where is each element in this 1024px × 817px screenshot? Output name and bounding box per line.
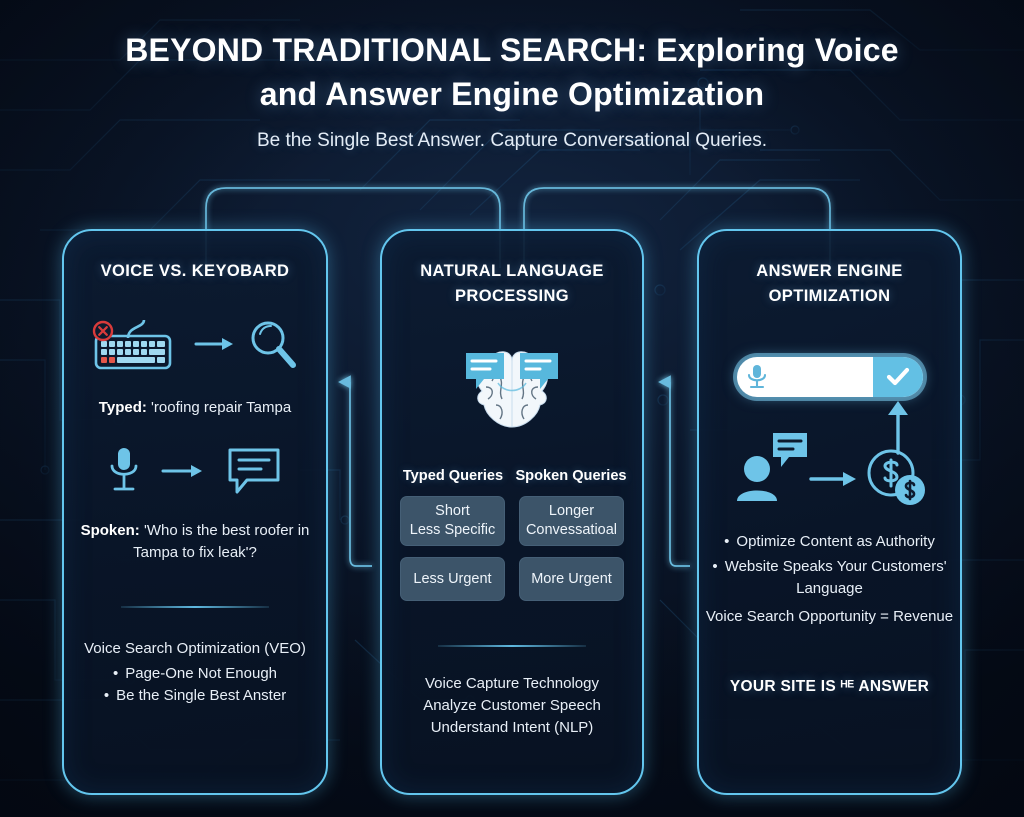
magnifier-icon bbox=[246, 316, 298, 377]
card-1-typed-caption: Typed: 'roofing repair Tampa bbox=[64, 397, 326, 419]
card-3-title-line-1: ANSWER ENGINE bbox=[711, 259, 948, 284]
page-subtitle: Be the Single Best Answer. Capture Conve… bbox=[0, 130, 1024, 152]
card-2-footer-line-3: Understand Intent (NLP) bbox=[396, 717, 628, 739]
page-title-rest: Exploring Voice bbox=[647, 32, 899, 68]
card-voice-vs-keyboard[interactable]: VOICE VS. KEYOBARD bbox=[62, 229, 328, 795]
card-1-title: VOICE VS. KEYOBARD bbox=[64, 259, 326, 284]
pill-line-2: Convessatioal bbox=[526, 522, 617, 538]
pill-row-1: Short Less Specific Longer Convessatioal bbox=[400, 496, 624, 546]
arrow-right-icon bbox=[194, 334, 236, 359]
pill-line-1: Longer bbox=[549, 503, 594, 519]
card-3-title: ANSWER ENGINE OPTIMIZATION bbox=[699, 259, 960, 309]
card-2-pill-grid: Short Less Specific Longer Convessatioal… bbox=[382, 496, 642, 601]
card-2-column-headers: Typed Queries Spoken Queries bbox=[382, 468, 642, 484]
card-1-icon-row-spoken bbox=[64, 445, 326, 502]
card-2-icon-row bbox=[382, 343, 642, 440]
card-3-equation: Voice Search Opportunity = Revenue bbox=[699, 606, 960, 628]
speech-bubble-icon bbox=[225, 445, 283, 502]
card-1-spoken-label: Spoken: bbox=[81, 522, 140, 539]
card-1-typed-label: Typed: bbox=[99, 399, 147, 416]
list-item: Optimize Content as Authority bbox=[711, 531, 948, 553]
person-speaking-icon bbox=[735, 431, 809, 508]
page-title-line-1: BEYOND TRADITIONAL SEARCH: Exploring Voi… bbox=[0, 28, 1024, 72]
card-1-icon-row-typed bbox=[64, 314, 326, 379]
card-2-footer-line-1: Voice Capture Technology bbox=[396, 673, 628, 695]
card-2-title-line-1: NATURAL LANGUAGE bbox=[394, 259, 630, 284]
pill-row-2: Less Urgent More Urgent bbox=[400, 557, 624, 601]
pill-typed-less-urgent[interactable]: Less Urgent bbox=[400, 557, 505, 601]
page-title-bold: BEYOND TRADITIONAL SEARCH: bbox=[125, 32, 647, 68]
page-header: BEYOND TRADITIONAL SEARCH: Exploring Voi… bbox=[0, 28, 1024, 152]
pill-line-1: Short bbox=[435, 503, 470, 519]
list-item: Website Speaks Your Customers' Language bbox=[711, 556, 948, 600]
card-3-title-line-2: OPTIMIZATION bbox=[711, 284, 948, 309]
pill-typed-short[interactable]: Short Less Specific bbox=[400, 496, 505, 546]
pill-spoken-longer[interactable]: Longer Convessatioal bbox=[519, 496, 624, 546]
page-title-line-2: and Answer Engine Optimization bbox=[0, 72, 1024, 116]
card-2-divider bbox=[438, 645, 586, 647]
checkmark-icon[interactable] bbox=[873, 357, 923, 397]
card-3-icon-row bbox=[699, 413, 960, 509]
card-3-closing-statement: YOUR SITE IS ᴴᴱ ANSWER bbox=[699, 678, 960, 696]
card-natural-language-processing[interactable]: NATURAL LANGUAGE PROCESSING bbox=[380, 229, 644, 795]
card-1-typed-value: 'roofing repair Tampa bbox=[147, 399, 291, 416]
arrow-up-icon bbox=[885, 399, 911, 460]
card-2-footer-line-2: Analyze Customer Speech bbox=[396, 695, 628, 717]
card-1-spoken-caption: Spoken: 'Who is the best roofer in Tampa… bbox=[64, 520, 326, 564]
pill-spoken-more-urgent[interactable]: More Urgent bbox=[519, 557, 624, 601]
column-header-spoken: Spoken Queries bbox=[515, 468, 627, 484]
card-1-spoken-value: 'Who is the best roofer in Tampa to fix … bbox=[133, 522, 309, 561]
keyboard-disabled-icon bbox=[92, 314, 184, 379]
card-1-footer-bullets: Page-One Not Enough Be the Single Best A… bbox=[64, 663, 326, 707]
card-2-footer: Voice Capture Technology Analyze Custome… bbox=[382, 673, 642, 739]
list-item: Page-One Not Enough bbox=[64, 663, 326, 685]
brain-chat-icon bbox=[460, 343, 564, 440]
arrow-right-icon bbox=[161, 461, 205, 486]
card-1-divider bbox=[121, 606, 269, 608]
card-2-title: NATURAL LANGUAGE PROCESSING bbox=[382, 259, 642, 309]
microphone-icon bbox=[107, 445, 141, 502]
pill-line-2: Less Specific bbox=[410, 522, 495, 538]
list-item: Be the Single Best Anster bbox=[64, 685, 326, 707]
voice-search-bar[interactable] bbox=[737, 357, 923, 397]
card-1-footer-heading: Voice Search Optimization (VEO) bbox=[64, 638, 326, 660]
column-header-typed: Typed Queries bbox=[397, 468, 509, 484]
card-2-title-line-2: PROCESSING bbox=[394, 284, 630, 309]
card-answer-engine-optimization[interactable]: ANSWER ENGINE OPTIMIZATION bbox=[697, 229, 962, 795]
arrow-right-icon bbox=[809, 469, 859, 494]
microphone-icon[interactable] bbox=[737, 363, 777, 391]
card-3-bullets: Optimize Content as Authority Website Sp… bbox=[699, 531, 960, 600]
